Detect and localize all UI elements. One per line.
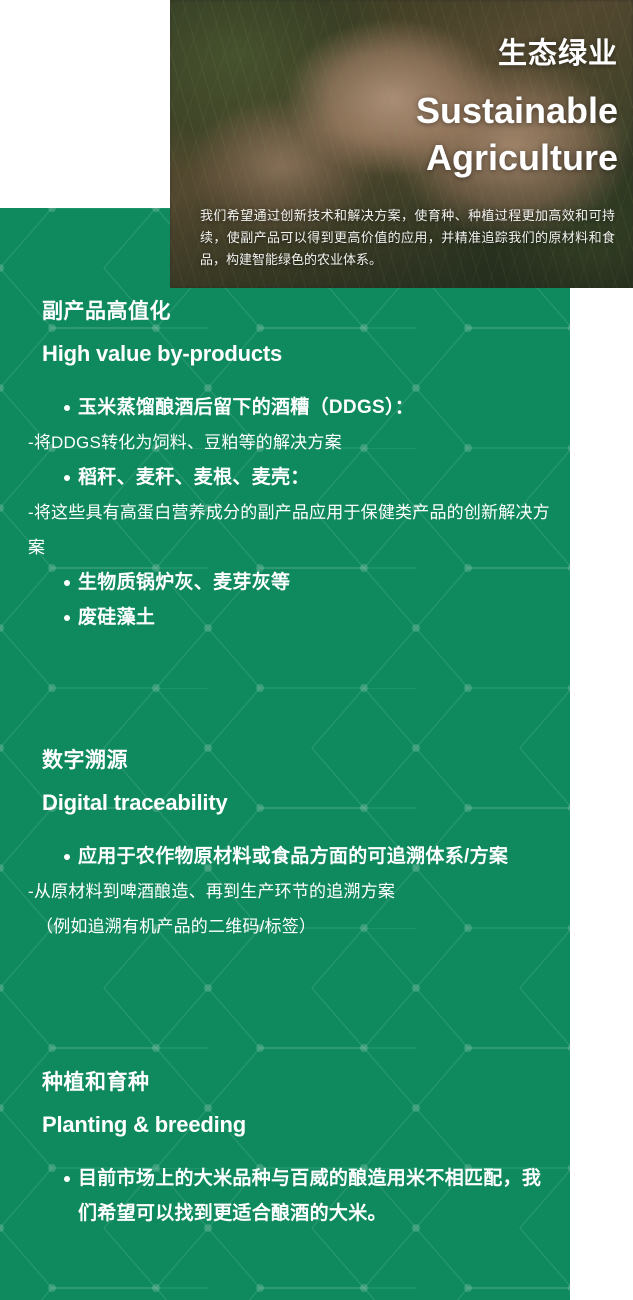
section-body: 目前市场上的大米品种与百威的酿造用米不相匹配，我们希望可以找到更适合酿酒的大米。 <box>0 1161 570 1231</box>
section-body: 生物质锅炉灰、麦芽灰等 废硅藻土 <box>0 565 570 635</box>
section-body: 玉米蒸馏酿酒后留下的酒糟（DDGS）： <box>0 390 570 425</box>
section-heading-cn: 副产品高值化 <box>0 300 570 323</box>
section-heading-en: High value by-products <box>0 342 570 366</box>
detail-line: （例如追溯有机产品的二维码/标签） <box>0 909 570 944</box>
list-item: 应用于农作物原材料或食品方面的可追溯体系/方案 <box>0 839 570 874</box>
section-heading-en: Planting & breeding <box>0 1113 570 1137</box>
list-item: 废硅藻土 <box>0 600 570 635</box>
detail-line: -从原材料到啤酒酿造、再到生产环节的追溯方案 <box>0 874 570 909</box>
section-heading-cn: 数字溯源 <box>0 749 570 772</box>
hero-title-chinese: 生态绿业 <box>498 40 618 69</box>
section-digital-traceability: 数字溯源 Digital traceability 应用于农作物原材料或食品方面… <box>0 749 570 944</box>
detail-line: -将DDGS转化为饲料、豆粕等的解决方案 <box>0 425 570 460</box>
detail-line: -将这些具有高蛋白营养成分的副产品应用于保健类产品的创新解决方案 <box>0 495 570 565</box>
list-item: 目前市场上的大米品种与百威的酿造用米不相匹配，我们希望可以找到更适合酿酒的大米。 <box>0 1161 570 1231</box>
section-body: 应用于农作物原材料或食品方面的可追溯体系/方案 <box>0 839 570 874</box>
section-high-value-by-products: 副产品高值化 High value by-products 玉米蒸馏酿酒后留下的… <box>0 300 570 635</box>
list-item: 稻秆、麦秆、麦根、麦壳： <box>0 460 570 495</box>
section-planting-breeding: 种植和育种 Planting & breeding 目前市场上的大米品种与百威的… <box>0 1071 570 1231</box>
hero-title-english-line2: Agriculture <box>426 140 618 176</box>
list-item: 生物质锅炉灰、麦芽灰等 <box>0 565 570 600</box>
section-body: 稻秆、麦秆、麦根、麦壳： <box>0 460 570 495</box>
section-heading-en: Digital traceability <box>0 791 570 815</box>
section-heading-cn: 种植和育种 <box>0 1071 570 1094</box>
hero-title-english-line1: Sustainable <box>416 93 618 129</box>
content-area: 副产品高值化 High value by-products 玉米蒸馏酿酒后留下的… <box>0 208 570 1300</box>
list-item: 玉米蒸馏酿酒后留下的酒糟（DDGS）： <box>0 390 570 425</box>
